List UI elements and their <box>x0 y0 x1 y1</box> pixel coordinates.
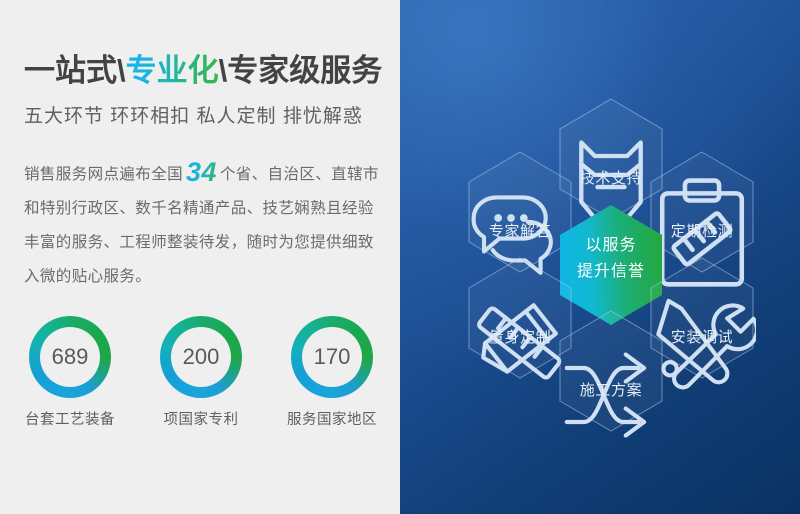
page-subtitle: 五大环节 环环相扣 私人定制 排忧解惑 <box>24 101 363 128</box>
paragraph-text-before: 销售服务网点遍布全国 <box>24 166 183 183</box>
screwdriver-wrench-icon <box>648 280 756 326</box>
page-title: 一站式\专业化\专家级服务 <box>24 55 382 86</box>
hexagon-honeycomb: 技术支持 专家解答 <box>400 0 800 514</box>
headline-separator-1: \ <box>117 53 126 88</box>
headline-highlight: 专业化 <box>126 53 219 88</box>
progress-ring: 170 <box>291 316 373 398</box>
progress-ring: 200 <box>160 316 242 398</box>
province-count: 34 <box>183 157 220 187</box>
stat-label: 项国家专利 <box>164 408 239 429</box>
stat-value: 689 <box>29 316 111 398</box>
hex-label: 安装调试 <box>648 326 756 347</box>
headline-part-1: 一站式 <box>24 53 117 88</box>
stat-item: 170 服务国家地区 <box>280 316 384 429</box>
stat-item: 200 项国家专利 <box>149 316 253 429</box>
promo-banner: 一站式\专业化\专家级服务 五大环节 环环相扣 私人定制 排忧解惑 销售服务网点… <box>0 0 800 514</box>
description-paragraph: 销售服务网点遍布全国34个省、自治区、直辖市和特别行政区、数千名精通产品、技艺娴… <box>24 155 380 294</box>
stat-value: 200 <box>160 316 242 398</box>
progress-ring: 689 <box>29 316 111 398</box>
headline-separator-2: \ <box>219 53 228 88</box>
headline-part-2: 专家级服务 <box>227 53 382 88</box>
stat-label: 服务国家地区 <box>287 408 377 429</box>
stat-item: 689 台套工艺装备 <box>18 316 122 429</box>
hex-cell-install-debug[interactable]: 安装调试 <box>648 256 756 380</box>
stat-value: 170 <box>291 316 373 398</box>
stats-row: 689 台套工艺装备 200 项国家专利 170 服务国家地区 <box>18 316 384 429</box>
right-graphic-panel: 技术支持 专家解答 <box>400 0 800 514</box>
stat-label: 台套工艺装备 <box>25 408 115 429</box>
left-info-panel: 一站式\专业化\专家级服务 五大环节 环环相扣 私人定制 排忧解惑 销售服务网点… <box>0 0 400 514</box>
